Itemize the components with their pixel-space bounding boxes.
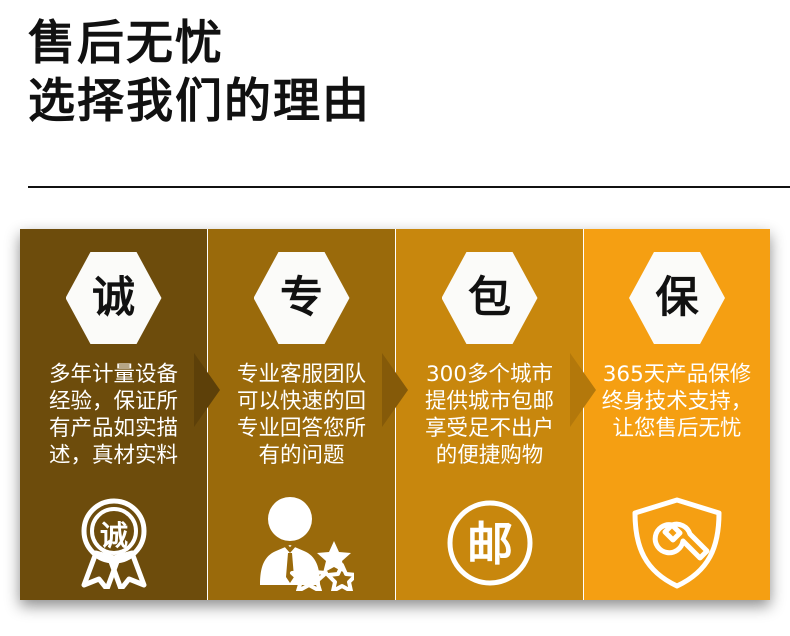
post-circle-glyph: 邮	[467, 517, 513, 571]
page-title: 售后无忧 选择我们的理由	[28, 14, 371, 130]
title-divider	[28, 186, 790, 188]
post-circle-icon: 邮	[438, 495, 542, 591]
hex-badge-2: 专	[254, 252, 350, 344]
hex-badge-label-1: 诚	[92, 277, 135, 320]
feature-panel-strip: 诚 多年计量设备 经验，保证所 有产品如实描 述，真材实料 诚 专	[20, 229, 770, 600]
hex-badge-label-2: 专	[280, 277, 323, 320]
shield-wrench-icon	[625, 495, 729, 591]
promo-banner: 售后无忧 选择我们的理由 诚 多年计量设备 经验，保证所 有产品如实描 述，真材…	[0, 0, 790, 636]
feature-text-3: 300多个城市 提供城市包邮 享受足不出户 的便捷购物	[396, 361, 583, 469]
feature-column-bao-you[interactable]: 包 300多个城市 提供城市包邮 享受足不出户 的便捷购物 邮	[396, 229, 583, 600]
hex-badge-label-4: 保	[656, 277, 699, 320]
award-ribbon-icon: 诚	[62, 495, 166, 591]
feature-text-4: 365天产品保修 终身技术支持， 让您售后无忧	[584, 361, 770, 442]
hex-badge-4: 保	[629, 252, 725, 344]
page-title-line-1: 售后无忧	[28, 14, 371, 72]
hex-badge-label-3: 包	[468, 277, 511, 320]
feature-text-1: 多年计量设备 经验，保证所 有产品如实描 述，真材实料	[20, 361, 207, 469]
page-title-line-2: 选择我们的理由	[28, 72, 371, 130]
agent-with-stars-icon	[250, 495, 354, 591]
award-ribbon-glyph: 诚	[99, 519, 127, 552]
feature-column-cheng[interactable]: 诚 多年计量设备 经验，保证所 有产品如实描 述，真材实料 诚	[20, 229, 207, 600]
feature-text-2: 专业客服团队 可以快速的回 专业回答您所 有的问题	[208, 361, 395, 469]
feature-column-bao[interactable]: 保 365天产品保修 终身技术支持， 让您售后无忧	[584, 229, 770, 600]
hex-badge-3: 包	[442, 252, 538, 344]
hex-badge-1: 诚	[66, 252, 162, 344]
feature-column-zhuan[interactable]: 专 专业客服团队 可以快速的回 专业回答您所 有的问题	[208, 229, 395, 600]
